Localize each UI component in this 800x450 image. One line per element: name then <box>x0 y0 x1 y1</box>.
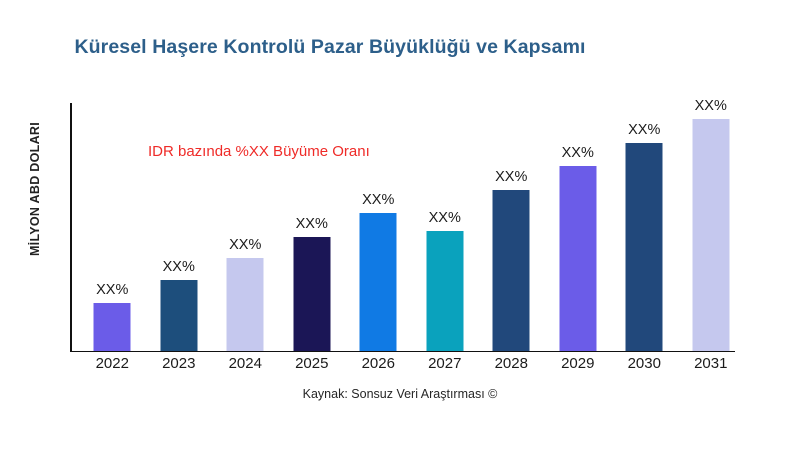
chart-title: Küresel Haşere Kontrolü Pazar Büyüklüğü … <box>0 36 660 59</box>
bar-group: XX%2022 <box>79 103 146 351</box>
bar[interactable] <box>160 280 197 351</box>
bar-group: XX%2027 <box>412 103 479 351</box>
bar-value-label: XX% <box>628 122 660 138</box>
x-axis-tick-label: 2026 <box>362 355 395 372</box>
x-axis-tick-label: 2029 <box>561 355 594 372</box>
bar-value-label: XX% <box>429 210 461 226</box>
growth-rate-annotation: IDR bazında %XX Büyüme Oranı <box>148 143 370 160</box>
bar-value-label: XX% <box>562 145 594 161</box>
bar[interactable] <box>426 231 463 351</box>
bar-group: XX%2028 <box>478 103 545 351</box>
x-axis-tick-label: 2030 <box>628 355 661 372</box>
x-axis-tick-label: 2031 <box>694 355 727 372</box>
x-axis-tick-label: 2025 <box>295 355 328 372</box>
bar[interactable] <box>360 213 397 351</box>
bar-group: XX%2023 <box>146 103 213 351</box>
x-axis-tick-label: 2022 <box>96 355 129 372</box>
bar[interactable] <box>626 143 663 351</box>
x-axis-tick-label: 2027 <box>428 355 461 372</box>
bar-value-label: XX% <box>495 169 527 185</box>
chart-container: Küresel Haşere Kontrolü Pazar Büyüklüğü … <box>0 0 800 450</box>
bar-value-label: XX% <box>296 216 328 232</box>
bar[interactable] <box>227 258 264 351</box>
bar-group: XX%2030 <box>611 103 678 351</box>
bar-group: XX%2029 <box>545 103 612 351</box>
bar[interactable] <box>559 166 596 351</box>
bar-value-label: XX% <box>229 237 261 253</box>
bar-group: XX%2024 <box>212 103 279 351</box>
bar-value-label: XX% <box>362 192 394 208</box>
x-axis-tick-label: 2024 <box>229 355 262 372</box>
x-axis-tick-label: 2028 <box>495 355 528 372</box>
bar-value-label: XX% <box>695 98 727 114</box>
bar[interactable] <box>94 303 131 351</box>
bar[interactable] <box>293 237 330 351</box>
bar-value-label: XX% <box>163 259 195 275</box>
x-axis-tick-label: 2023 <box>162 355 195 372</box>
plot-area: XX%2022XX%2023XX%2024XX%2025XX%2026XX%20… <box>70 103 800 351</box>
bar-group: XX%2031 <box>678 103 745 351</box>
source-caption: Kaynak: Sonsuz Veri Araştırması © <box>0 387 800 401</box>
bar-value-label: XX% <box>96 282 128 298</box>
bar[interactable] <box>692 119 729 351</box>
bar[interactable] <box>493 190 530 351</box>
y-axis-label: MİLYON ABD DOLARI <box>28 69 42 309</box>
bar-group: XX%2025 <box>279 103 346 351</box>
bar-group: XX%2026 <box>345 103 412 351</box>
